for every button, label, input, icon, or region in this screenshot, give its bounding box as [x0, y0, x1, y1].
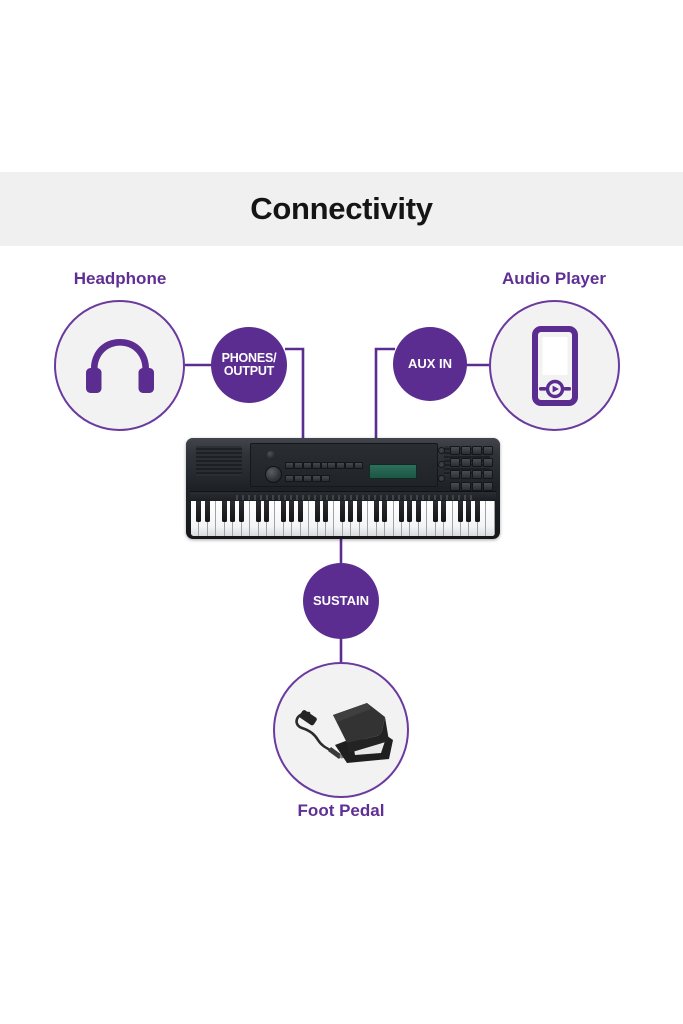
headphone-icon — [83, 335, 157, 397]
keyboard-button-grid-left — [285, 462, 328, 469]
piano-white-key[interactable] — [427, 501, 435, 536]
piano-black-key[interactable] — [230, 501, 235, 522]
keyboard-button-grid-mid — [285, 475, 328, 482]
piano-black-key[interactable] — [239, 501, 244, 522]
piano-black-key[interactable] — [475, 501, 480, 522]
piano-black-key[interactable] — [315, 501, 320, 522]
piano-black-key[interactable] — [416, 501, 421, 522]
connectivity-diagram-page: Connectivity Headphone PHONES/ OUTPUT — [0, 0, 683, 1024]
piano-black-key[interactable] — [323, 501, 328, 522]
piano-black-key[interactable] — [340, 501, 345, 522]
audio-player-icon — [532, 326, 578, 406]
piano-black-key[interactable] — [433, 501, 438, 522]
piano-black-key[interactable] — [441, 501, 446, 522]
audio-player-node[interactable] — [489, 300, 620, 431]
piano-white-key[interactable] — [394, 501, 402, 536]
piano-black-key[interactable] — [348, 501, 353, 522]
piano-black-key[interactable] — [374, 501, 379, 522]
foot-pedal-label: Foot Pedal — [221, 801, 461, 821]
keyboard-control-panel — [250, 443, 438, 487]
piano-white-key[interactable] — [453, 501, 461, 536]
piano-white-key[interactable] — [191, 501, 199, 536]
keyboard-speaker-left — [196, 446, 242, 476]
piano-black-key[interactable] — [407, 501, 412, 522]
piano-black-key[interactable] — [205, 501, 210, 522]
piano-black-key[interactable] — [399, 501, 404, 522]
port-aux-label: AUX IN — [408, 357, 452, 370]
keyboard-right-panel — [442, 443, 494, 485]
keyboard-button-grid-upper — [327, 462, 361, 469]
piano-black-key[interactable] — [281, 501, 286, 522]
piano-white-key[interactable] — [216, 501, 224, 536]
keyboard-power-knob — [267, 451, 275, 459]
keyboard-indicator-dots — [438, 447, 443, 482]
piano-black-key[interactable] — [196, 501, 201, 522]
piano-black-key[interactable] — [458, 501, 463, 522]
port-sustain-label: SUSTAIN — [313, 594, 369, 607]
headphone-node[interactable] — [54, 300, 185, 431]
keyboard-lcd-display — [369, 464, 417, 479]
digital-keyboard-icon[interactable] — [186, 438, 500, 539]
piano-white-key[interactable] — [334, 501, 342, 536]
piano-white-key[interactable] — [486, 501, 494, 536]
piano-black-key[interactable] — [222, 501, 227, 522]
keyboard-button-grid-right — [450, 446, 491, 491]
audio-player-label: Audio Player — [434, 269, 674, 289]
piano-black-key[interactable] — [289, 501, 294, 522]
port-phones-line2: OUTPUT — [224, 365, 274, 378]
keyboard-voice-marks — [236, 495, 476, 500]
headphone-label: Headphone — [0, 269, 240, 289]
foot-pedal-node[interactable] — [273, 662, 409, 798]
port-badge-sustain[interactable]: SUSTAIN — [303, 563, 379, 639]
port-badge-phones-output[interactable]: PHONES/ OUTPUT — [211, 327, 287, 403]
piano-black-key[interactable] — [298, 501, 303, 522]
piano-black-key[interactable] — [466, 501, 471, 522]
piano-black-key[interactable] — [264, 501, 269, 522]
piano-white-key[interactable] — [250, 501, 258, 536]
piano-white-key[interactable] — [275, 501, 283, 536]
piano-white-key[interactable] — [309, 501, 317, 536]
piano-black-key[interactable] — [357, 501, 362, 522]
keyboard-body — [186, 438, 500, 539]
wire-phones-to-keyboard — [285, 349, 303, 440]
keyboard-keys[interactable] — [191, 501, 495, 536]
port-badge-aux-in[interactable]: AUX IN — [393, 327, 467, 401]
piano-black-key[interactable] — [256, 501, 261, 522]
piano-white-key[interactable] — [368, 501, 376, 536]
piano-black-key[interactable] — [382, 501, 387, 522]
keyboard-volume-knob — [265, 466, 282, 483]
foot-pedal-icon — [285, 685, 397, 775]
